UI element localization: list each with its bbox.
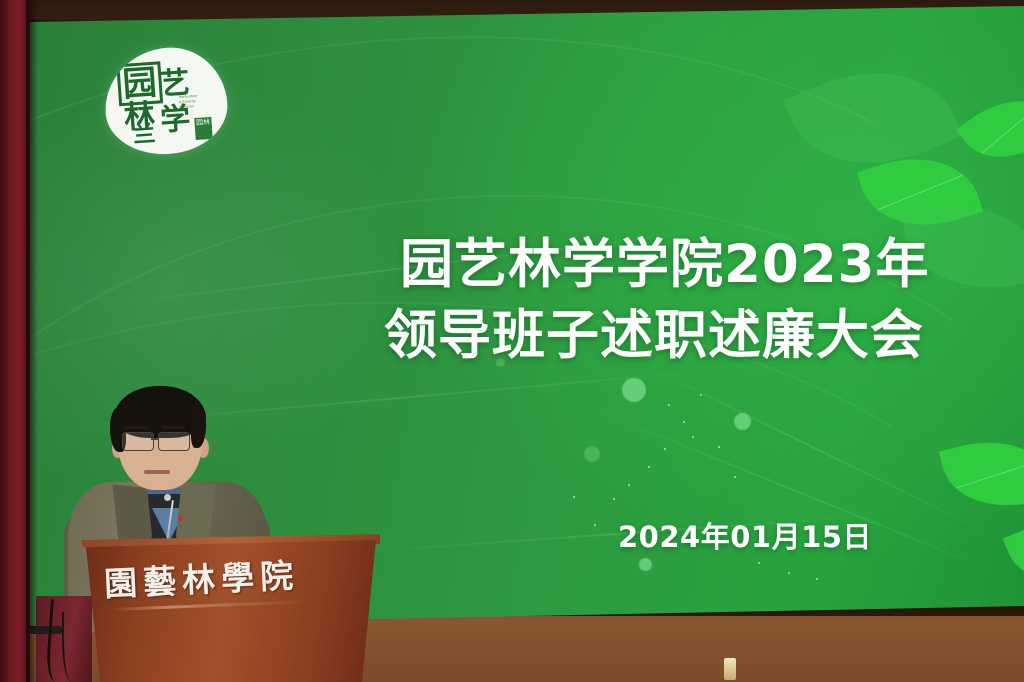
particle-6	[628, 484, 630, 486]
microphone-indicator-light	[178, 516, 183, 521]
particle-13	[816, 578, 818, 580]
bokeh-1	[622, 378, 646, 402]
particle-11	[758, 562, 760, 564]
leaf-vein	[982, 105, 1024, 153]
particle-2	[683, 421, 685, 423]
conference-photo-scene: 园 艺 林 学 兰 Horticulture & Forestry Scienc…	[0, 0, 1024, 682]
audio-cable-2	[62, 612, 78, 682]
glasses-bridge	[151, 438, 159, 440]
leaf-vein	[878, 175, 962, 210]
speaker-eyebrow-right	[161, 426, 185, 429]
speaker-eyebrow-left	[124, 426, 148, 429]
bokeh-3	[584, 446, 600, 462]
glasses-lens-left	[122, 432, 154, 451]
particle-5	[648, 466, 650, 468]
particle-3	[692, 436, 694, 438]
slide-date: 2024年01月15日	[618, 514, 872, 556]
particle-10	[734, 476, 736, 478]
glasses-lens-right	[158, 432, 190, 451]
particle-1	[668, 404, 670, 406]
logo-char-lan: 兰	[133, 123, 156, 146]
logo-english-text: Horticulture & Forestry Sciences	[179, 92, 220, 110]
stage-floor-light	[724, 658, 736, 680]
bokeh-2	[734, 413, 751, 430]
particle-12	[788, 572, 790, 574]
particle-15	[573, 496, 575, 498]
microphone-head-icon	[164, 494, 171, 501]
speaker-mouth	[144, 470, 170, 474]
slide-title-line-2: 领导班子述职述廉大会	[384, 293, 924, 369]
particle-4	[664, 448, 666, 450]
bokeh-4	[639, 558, 652, 571]
slide-title-line-1: 园艺林学学院2023年	[400, 222, 930, 298]
particle-8	[700, 394, 702, 396]
particle-7	[613, 498, 615, 500]
curtain-shadow	[26, 0, 38, 682]
leaf-vein	[956, 461, 1024, 489]
logo-seal-stamp: 园林	[194, 117, 212, 140]
particle-9	[718, 446, 720, 448]
particle-14	[594, 524, 596, 526]
